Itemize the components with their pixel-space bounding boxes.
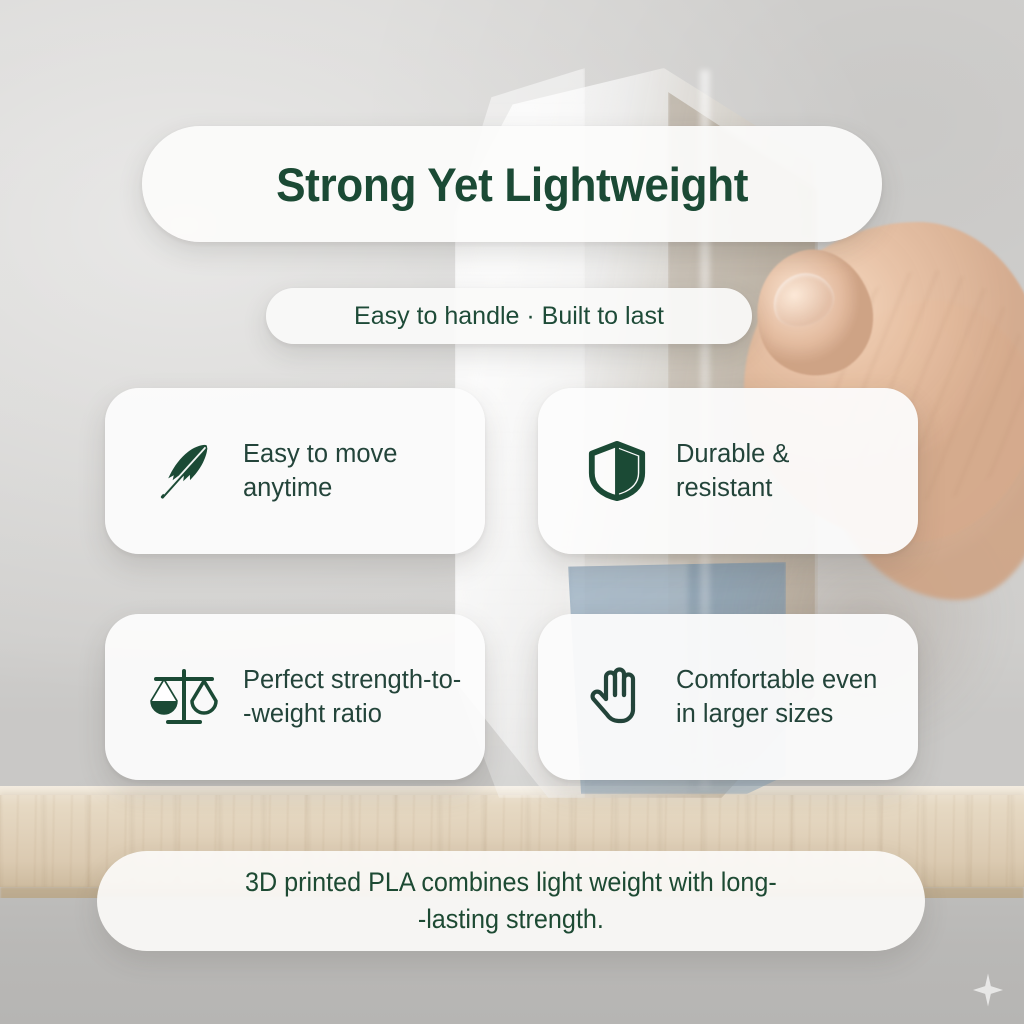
- page-subtitle: Easy to handle · Built to last: [354, 302, 664, 331]
- feature-label: Perfect strength-to- -weight ratio: [243, 663, 485, 731]
- feather-icon: [147, 434, 221, 508]
- balance-scale-icon: [147, 660, 221, 734]
- feature-card-easy-to-move[interactable]: Easy to move anytime: [105, 388, 485, 554]
- feature-card-strength-to-weight[interactable]: Perfect strength-to- -weight ratio: [105, 614, 485, 780]
- shield-icon: [580, 434, 654, 508]
- feature-card-comfortable-larger-sizes[interactable]: Comfortable even in larger sizes: [538, 614, 918, 780]
- sparkle-icon: [970, 972, 1006, 1008]
- footer-pill: 3D printed PLA combines light weight wit…: [97, 851, 925, 951]
- infographic-canvas: Strong Yet Lightweight Easy to handle · …: [0, 0, 1024, 1024]
- feature-label: Comfortable even in larger sizes: [676, 663, 877, 731]
- open-hand-icon: [580, 660, 654, 734]
- feature-label: Easy to move anytime: [243, 437, 397, 505]
- page-title: Strong Yet Lightweight: [276, 157, 748, 212]
- feature-label: Durable & resistant: [676, 437, 789, 505]
- feature-card-durable-resistant[interactable]: Durable & resistant: [538, 388, 918, 554]
- subtitle-pill: Easy to handle · Built to last: [266, 288, 752, 344]
- footer-caption: 3D printed PLA combines light weight wit…: [245, 864, 777, 937]
- title-pill: Strong Yet Lightweight: [142, 126, 882, 242]
